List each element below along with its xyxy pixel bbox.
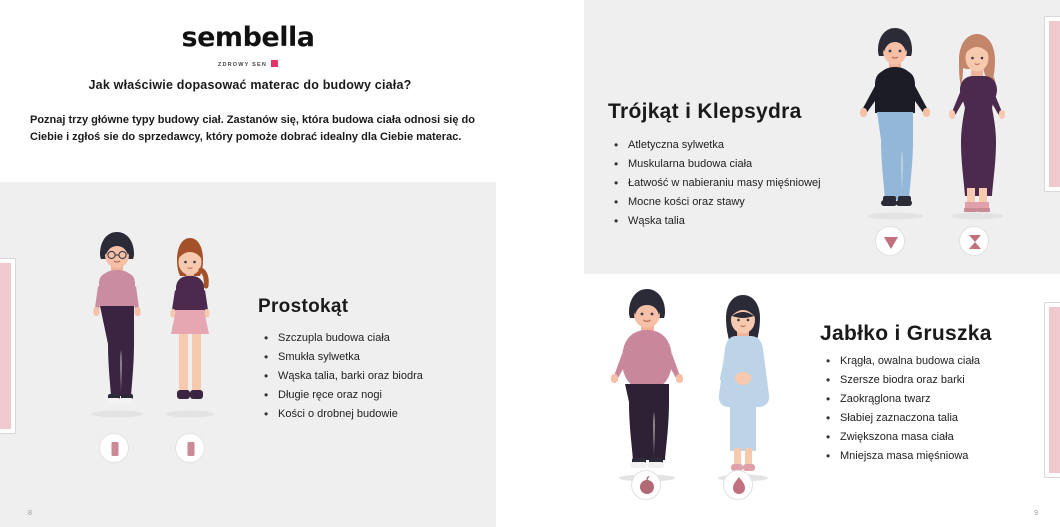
list-item: Smukła sylwetka (262, 348, 472, 367)
list-item: Zwiększona masa ciała (824, 428, 1060, 447)
pink-accent-card-top-right (1044, 16, 1060, 192)
brand-name: sembella (0, 22, 496, 53)
illustration-apple-man (608, 284, 686, 482)
illustration-slim-man (84, 228, 150, 418)
intro-paragraph: Poznaj trzy główne typy budowy ciał. Zas… (30, 112, 488, 146)
brand-square-icon (271, 60, 278, 67)
list-item: Kości o drobnej budowie (262, 405, 472, 424)
apple-icon (632, 471, 662, 501)
list-item: Słabiej zaznaczona talia (824, 409, 1060, 428)
list-item: Krągła, owalna budowa ciała (824, 352, 1060, 371)
rectangle-shape-badge (175, 433, 205, 463)
list-item: Długie ręce oraz nogi (262, 386, 472, 405)
section-title-triangle-hourglass: Trójkąt i Klepsydra (608, 100, 802, 124)
hourglass-shape-badge (959, 226, 989, 256)
pear-shape-badge (723, 470, 753, 500)
bullet-list-rectangle: Szczupla budowa ciała Smukła sylwetka Wą… (262, 329, 472, 424)
list-item: Muskularna budowa ciała (612, 155, 872, 174)
illustration-pear-woman (708, 290, 778, 482)
list-item: Wąska talia, barki oraz biodra (262, 367, 472, 386)
list-item: Łatwość w nabieraniu masy mięśniowej (612, 174, 872, 193)
rectangle-icon (100, 434, 130, 464)
section-title-apple-pear: Jabłko i Gruszka (820, 322, 992, 346)
triangle-shape-badge (875, 226, 905, 256)
hourglass-icon (960, 227, 990, 257)
illustration-athletic-man (858, 24, 932, 220)
pear-icon (724, 471, 754, 501)
pink-accent-card-left (0, 258, 16, 434)
list-item: Zaokrąglona twarz (824, 390, 1060, 409)
brand-tagline: ZDROWY SEN (218, 62, 267, 68)
apple-shape-badge (631, 470, 661, 500)
triangle-icon (876, 227, 906, 257)
left-page: sembella ZDROWY SEN Jak właściwie dopaso… (0, 0, 496, 527)
list-item: Wąska talia (612, 212, 872, 231)
right-page: Trójkąt i Klepsydra Atletyczna sylwetka … (584, 0, 1060, 527)
page-title: Jak właściwie dopasować materac do budow… (30, 78, 470, 92)
pink-fill (1049, 21, 1060, 187)
brand-logo: sembella ZDROWY SEN (0, 22, 496, 71)
bullet-list-triangle-hourglass: Atletyczna sylwetka Muskularna budowa ci… (612, 136, 872, 231)
bullet-list-apple-pear: Krągła, owalna budowa ciała Szersze biod… (824, 352, 1060, 465)
list-item: Szersze biodra oraz barki (824, 371, 1060, 390)
list-item: Mocne kości oraz stawy (612, 193, 872, 212)
illustration-slim-woman (160, 232, 220, 418)
rectangle-shape-badge (99, 433, 129, 463)
rectangle-icon (176, 434, 206, 464)
illustration-hourglass-woman (940, 28, 1014, 220)
page-number-right: 9 (1034, 510, 1038, 517)
page-number-left: 8 (28, 510, 32, 517)
section-title-rectangle: Prostokąt (258, 296, 348, 318)
list-item: Szczupla budowa ciała (262, 329, 472, 348)
list-item: Atletyczna sylwetka (612, 136, 872, 155)
pink-fill (0, 263, 11, 429)
list-item: Mniejsza masa mięśniowa (824, 447, 1060, 466)
